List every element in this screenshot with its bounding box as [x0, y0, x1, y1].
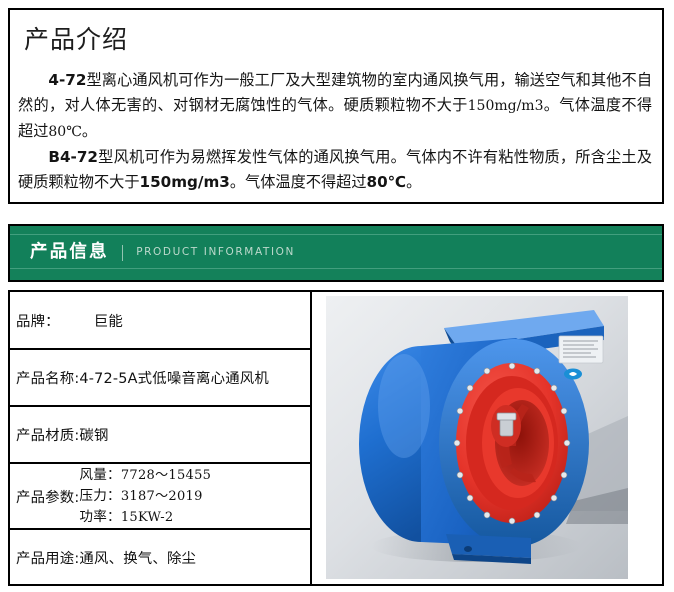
- parameter-pressure: 压力：3187～2019: [79, 486, 211, 507]
- parameter-airflow: 风量：7728～15455: [79, 465, 211, 486]
- section-title-cn: 产品信息: [30, 239, 109, 265]
- section-header-product-information: 产品信息 | PRODUCT INFORMATION: [8, 224, 664, 282]
- parameter-power: 功率：15KW-2: [79, 507, 211, 528]
- intro-p1-end: 。: [82, 122, 97, 140]
- intro-body: 4-72型离心通风机可作为一般工厂及大型建筑物的室内通风换气用，输送空气和其他不…: [18, 68, 652, 195]
- intro-paragraph-2: B4-72型风机可作为易燃挥发性气体的通风换气用。气体内不许有粘性物质，所含尘土…: [18, 145, 652, 195]
- usage-label: 产品用途:: [16, 547, 79, 568]
- parameter-power-key: 功率：: [79, 509, 120, 525]
- hub-nut: [497, 413, 516, 420]
- intro-p1-limit: 150mg/m3: [468, 98, 544, 114]
- intro-p2-tail: 。气体温度不得超过: [230, 173, 367, 191]
- spec-table: 品牌： 巨能 产品名称:4-72-5A式低噪音离心通风机 产品材质:碳钢 产品参…: [8, 290, 310, 586]
- model-4-72: 4-72: [48, 71, 86, 89]
- parameters-list: 风量：7728～15455 压力：3187～2019 功率：15KW-2: [79, 465, 211, 528]
- table-row-usage: 产品用途:通风、换气、除尘: [10, 530, 310, 584]
- section-title-en: PRODUCT INFORMATION: [136, 240, 295, 264]
- parameter-airflow-key: 风量：: [79, 467, 120, 483]
- intro-p1-temp: 80℃: [48, 124, 81, 140]
- product-image-cell: [310, 290, 664, 586]
- brand-label: 品牌：: [16, 310, 60, 331]
- product-name-value: 4-72-5A式低噪音离心通风机: [79, 367, 269, 388]
- green-stripe-bottom: [10, 268, 662, 269]
- model-b4-72: B4-72: [48, 148, 98, 166]
- housing-highlight: [378, 354, 430, 458]
- material-label: 产品材质:: [16, 424, 79, 445]
- parameter-airflow-value: 7728～15455: [121, 468, 211, 483]
- usage-value: 通风、换气、除尘: [79, 547, 196, 568]
- intro-p2-limit: 150mg/m3: [140, 173, 230, 191]
- section-title-separator: |: [120, 240, 125, 264]
- centrifugal-fan-illustration: [326, 296, 628, 579]
- section-header-label: 产品信息 | PRODUCT INFORMATION: [30, 239, 295, 265]
- intro-p2-end: 。: [406, 173, 421, 191]
- intro-p2-temp: 80℃: [367, 173, 407, 191]
- table-row-product-name: 产品名称:4-72-5A式低噪音离心通风机: [10, 350, 310, 407]
- table-row-brand: 品牌： 巨能: [10, 292, 310, 350]
- product-intro-box: 产品介绍 4-72型离心通风机可作为一般工厂及大型建筑物的室内通风换气用，输送空…: [8, 8, 664, 204]
- parameter-power-value: 15KW-2: [121, 510, 174, 525]
- page-title: 产品介绍: [24, 26, 662, 54]
- table-row-parameters: 产品参数: 风量：7728～15455 压力：3187～2019 功率：15KW…: [10, 464, 310, 530]
- green-stripe-top: [10, 234, 662, 235]
- parameter-pressure-value: 3187～2019: [121, 489, 203, 504]
- intro-paragraph-1: 4-72型离心通风机可作为一般工厂及大型建筑物的室内通风换气用，输送空气和其他不…: [18, 68, 652, 145]
- parameters-label: 产品参数:: [16, 486, 79, 507]
- bottom-spacer: [0, 586, 674, 592]
- base-bolt-hole: [464, 546, 472, 552]
- product-info-area: 品牌： 巨能 产品名称:4-72-5A式低噪音离心通风机 产品材质:碳钢 产品参…: [8, 290, 664, 586]
- parameter-pressure-key: 压力：: [79, 488, 120, 504]
- material-value: 碳钢: [79, 424, 108, 445]
- product-name-label: 产品名称:: [16, 367, 79, 388]
- table-row-material: 产品材质:碳钢: [10, 407, 310, 464]
- parameters-wrapper: 产品参数: 风量：7728～15455 压力：3187～2019 功率：15KW…: [16, 465, 211, 528]
- nameplate-sticker: [559, 336, 603, 363]
- product-photo: [326, 296, 628, 579]
- brand-value: 巨能: [94, 310, 123, 331]
